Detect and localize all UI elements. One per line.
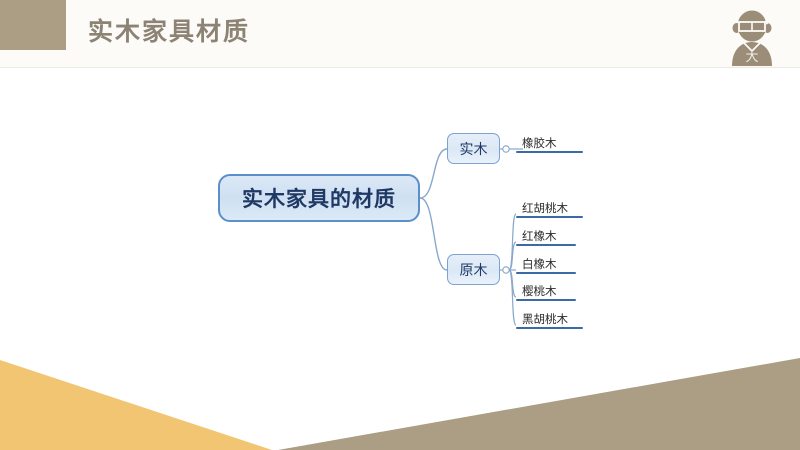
leaf-underline: [516, 299, 576, 301]
leaf-underline: [516, 272, 576, 274]
mindmap-branch-node-shimu[interactable]: 实木: [447, 133, 500, 164]
header-accent-block: [0, 0, 66, 50]
mindmap-leaf-label: 橡胶木: [522, 139, 557, 151]
leaf-underline: [516, 151, 583, 153]
avatar: 大: [720, 4, 784, 68]
mindmap-leaf-label: 白橡木: [522, 260, 557, 272]
mindmap-leaf-heihutaomu[interactable]: 黑胡桃木: [516, 303, 583, 329]
mindmap: 实木家具的材质 实木 原木 橡胶木 红胡桃木 红橡木 白橡木 樱桃木: [0, 68, 800, 340]
mindmap-leaf-honghutaomu[interactable]: 红胡桃木: [516, 192, 583, 218]
person-avatar-icon: 大: [720, 4, 784, 68]
mindmap-branch-label: 原木: [460, 260, 488, 280]
mindmap-branch-label: 实木: [460, 139, 488, 159]
mindmap-leaf-yingtaomu[interactable]: 樱桃木: [516, 275, 576, 301]
mindmap-leaf-label: 红胡桃木: [522, 204, 568, 216]
avatar-body-character: 大: [745, 49, 758, 64]
mindmap-leaf-label: 樱桃木: [522, 287, 557, 299]
mindmap-leaf-baixiangmu[interactable]: 白橡木: [516, 248, 576, 274]
slide-canvas: 实木家具材质 大: [0, 0, 800, 450]
leaf-underline: [516, 244, 576, 246]
mindmap-leaf-hongxiangmu[interactable]: 红橡木: [516, 220, 576, 246]
page-title: 实木家具材质: [88, 20, 250, 45]
mindmap-leaf-label: 红橡木: [522, 232, 557, 244]
mindmap-root-node[interactable]: 实木家具的材质: [218, 174, 420, 222]
mindmap-root-label: 实木家具的材质: [242, 183, 396, 213]
leaf-underline: [516, 327, 583, 329]
leaf-underline: [516, 216, 583, 218]
mindmap-leaf-label: 黑胡桃木: [522, 315, 568, 327]
mindmap-branch-node-yuanmu[interactable]: 原木: [447, 254, 500, 285]
decor-orange-triangle: [0, 340, 800, 450]
mindmap-leaf-xiangjiaomu[interactable]: 橡胶木: [516, 127, 583, 153]
